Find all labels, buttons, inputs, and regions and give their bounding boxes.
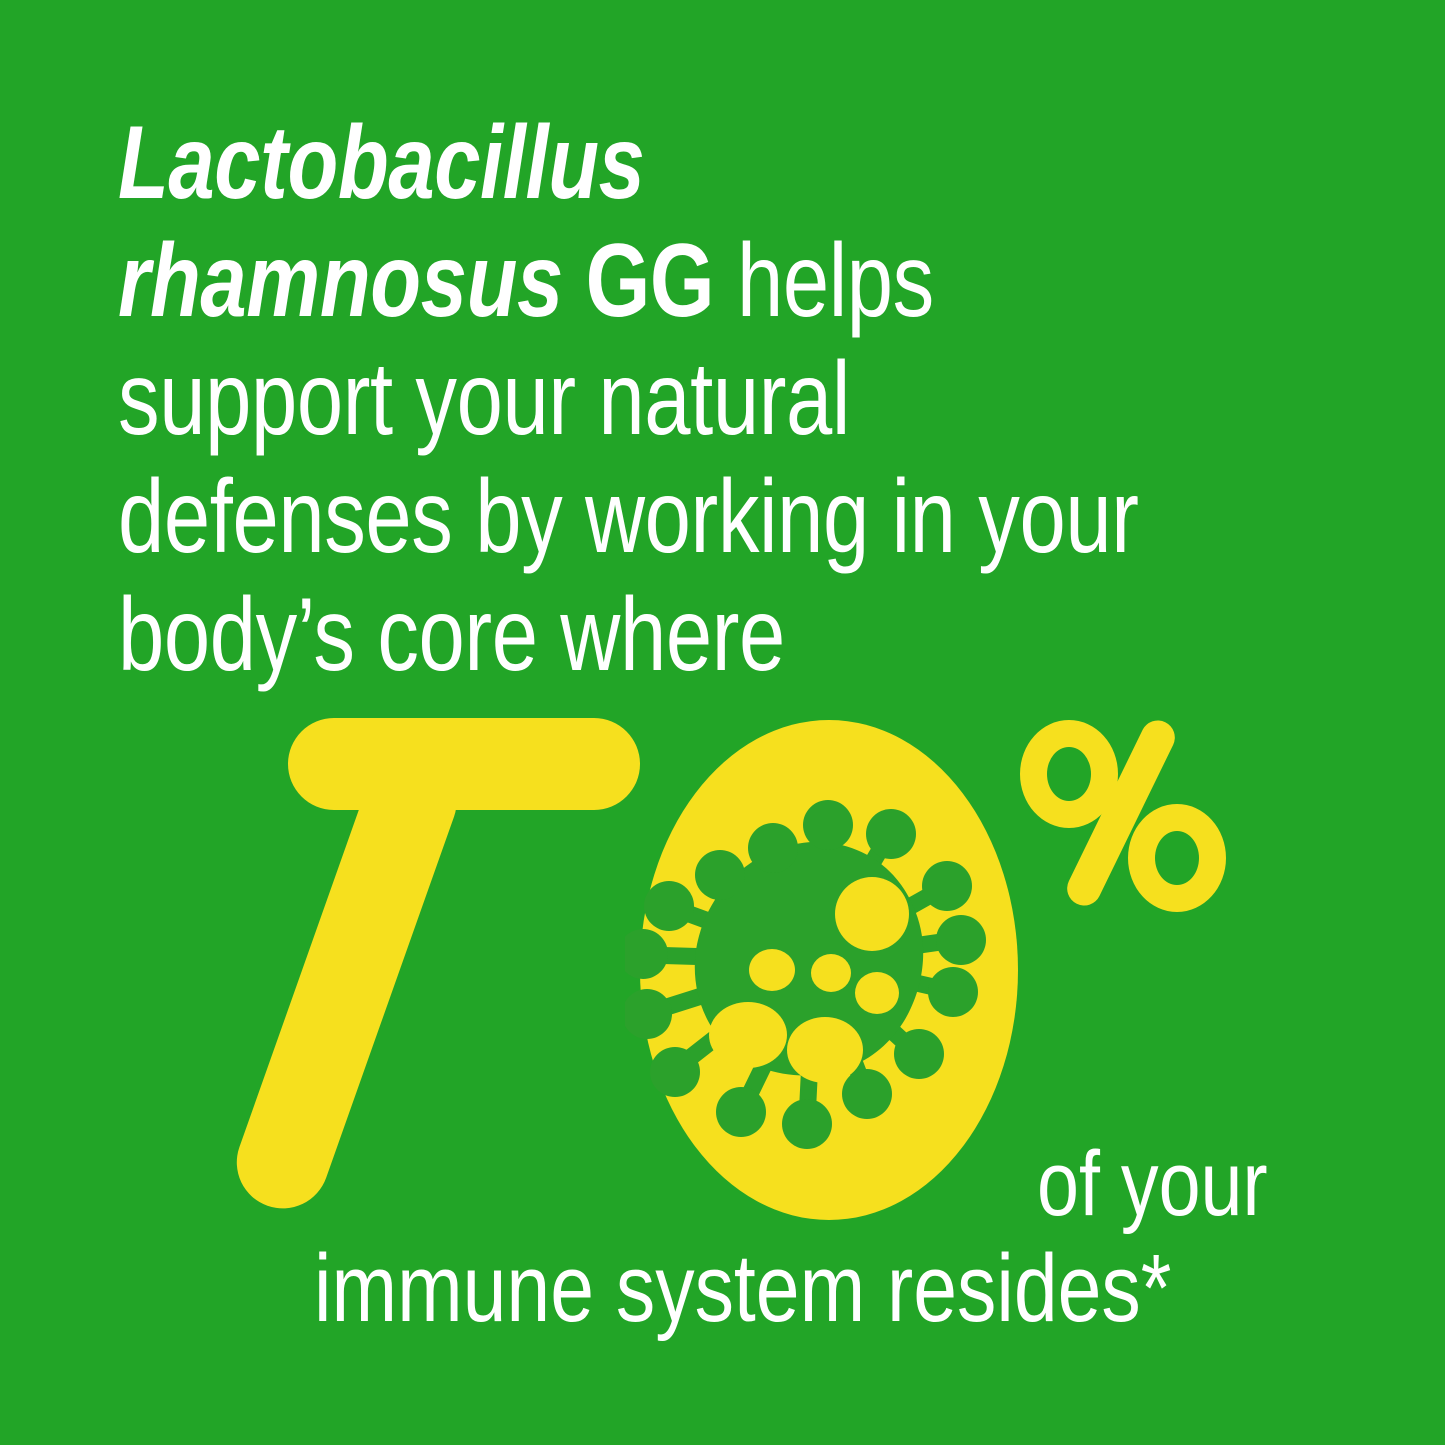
footer-of-your: of your — [1037, 1134, 1268, 1234]
headline-line-3: support your natural — [118, 340, 1118, 458]
species-name-genus: Lactobacillus — [118, 105, 645, 221]
germ-icon — [625, 790, 995, 1150]
stat-digit-seven — [288, 718, 658, 1218]
species-name-species: rhamnosus — [118, 223, 563, 339]
seven-top-bar — [288, 718, 640, 810]
footer-immune-system-resides: immune system resides* — [314, 1235, 1171, 1343]
headline-line-4: defenses by working in your — [118, 458, 1118, 576]
headline-line-5: body’s core where — [118, 576, 1118, 694]
percent-sign — [1018, 712, 1233, 917]
seven-diagonal-bar — [224, 743, 469, 1221]
percent-lower-ring — [1128, 804, 1226, 912]
poster-canvas: Lactobacillus rhamnosus GG helps support… — [0, 0, 1445, 1445]
headline-line-1: Lactobacillus — [118, 104, 1118, 222]
strain-name-gg: GG — [586, 223, 715, 339]
headline-block: Lactobacillus rhamnosus GG helps support… — [118, 104, 1118, 694]
headline-line-2: rhamnosus GG helps — [118, 222, 1118, 340]
headline-word-helps: helps — [737, 223, 934, 339]
